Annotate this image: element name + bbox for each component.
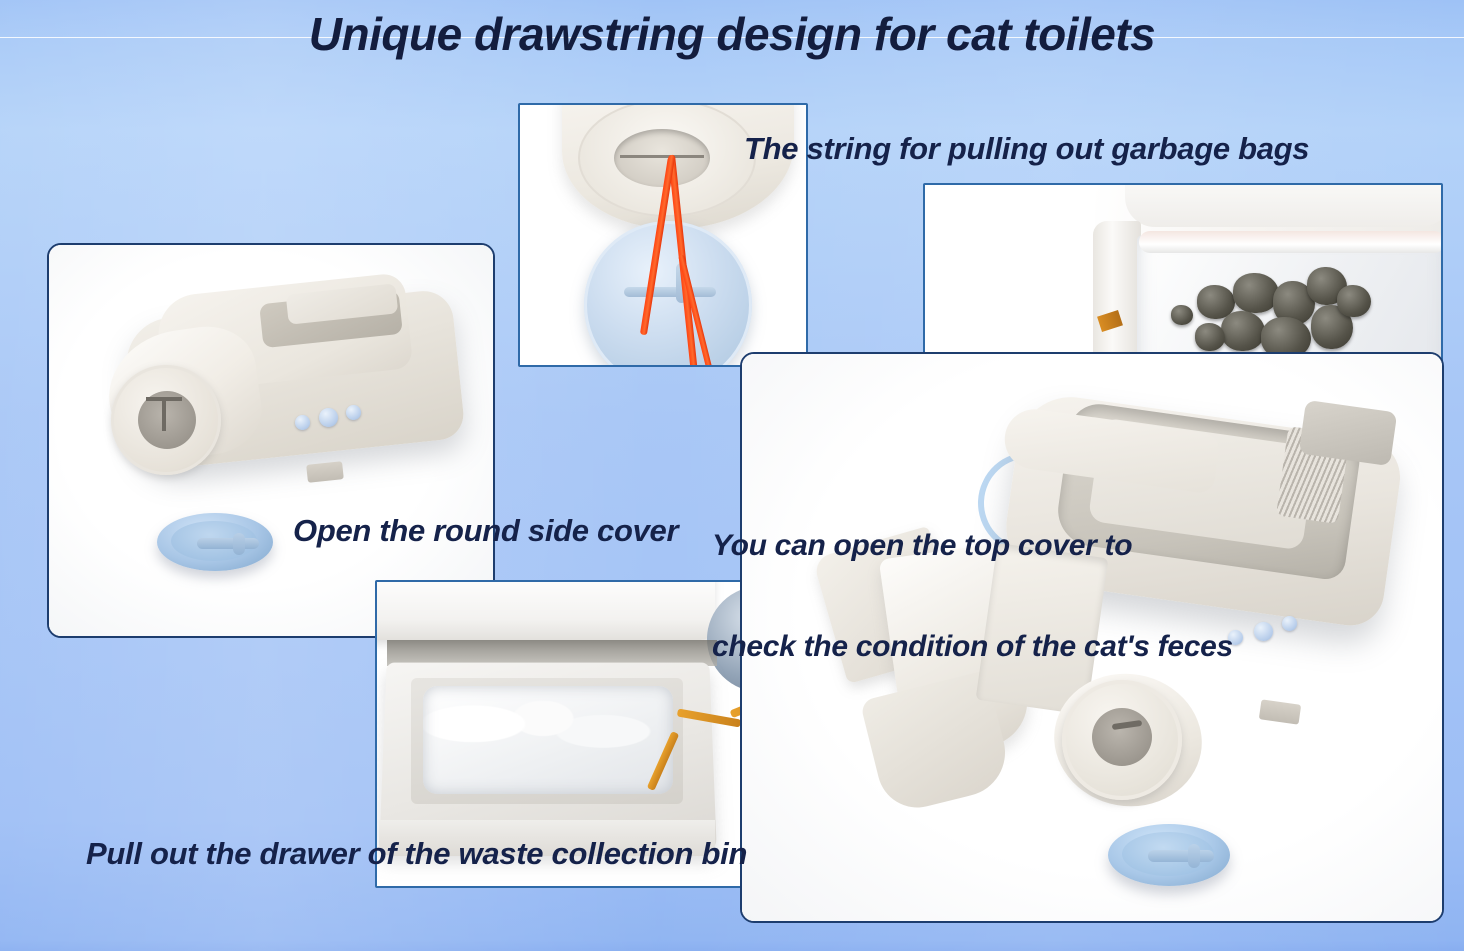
lid-handle-bar [1148,850,1214,862]
lid-handle-stem [1188,844,1200,868]
litter-clump [1195,323,1225,351]
device-foot [306,461,344,483]
lid-handle-stem [233,533,245,555]
round-side-cover-lid [157,513,273,571]
control-button-1 [295,415,310,430]
port-inner-opening [614,129,710,187]
control-button-2 [1254,622,1273,641]
port-hole [138,391,196,449]
control-button-2 [319,408,338,427]
litter-clump [1233,273,1279,313]
disc-handle-bar [624,287,716,297]
caption-side-cover: Open the round side cover [293,515,678,548]
port-bar [620,155,704,158]
lid-inner [171,521,257,561]
port-hook-horizontal [146,397,182,401]
litter-clump [1171,305,1193,325]
caption-top-cover: You can open the top cover to check the … [712,462,1233,731]
infographic-stage: Unique drawstring design for cat toilets… [0,0,1464,951]
garbage-bag-fold [1139,231,1441,253]
round-side-cover-lid [1108,824,1230,886]
page-title: Unique drawstring design for cat toilets [0,2,1464,66]
caption-drawer: Pull out the drawer of the waste collect… [86,838,747,871]
device-upper-shell [1125,185,1441,227]
caption-drawstring: The string for pulling out garbage bags [744,133,1309,166]
white-garbage-bags [423,686,673,794]
photo-side-cover [49,245,493,636]
litter-clump [1337,285,1371,317]
round-side-port [111,365,221,475]
device-side-cover-photo [47,243,495,638]
caption-top-cover-line1: You can open the top cover to [712,529,1233,563]
lid-handle-bar [197,538,259,549]
control-button-3 [346,405,361,420]
litter-clump [1221,311,1265,351]
lid-inner [1122,832,1214,876]
device-lower-shell [377,582,715,640]
caption-top-cover-line2: check the condition of the cat's feces [712,630,1233,664]
port-hook-vertical [162,397,166,431]
control-button-3 [1282,616,1297,631]
